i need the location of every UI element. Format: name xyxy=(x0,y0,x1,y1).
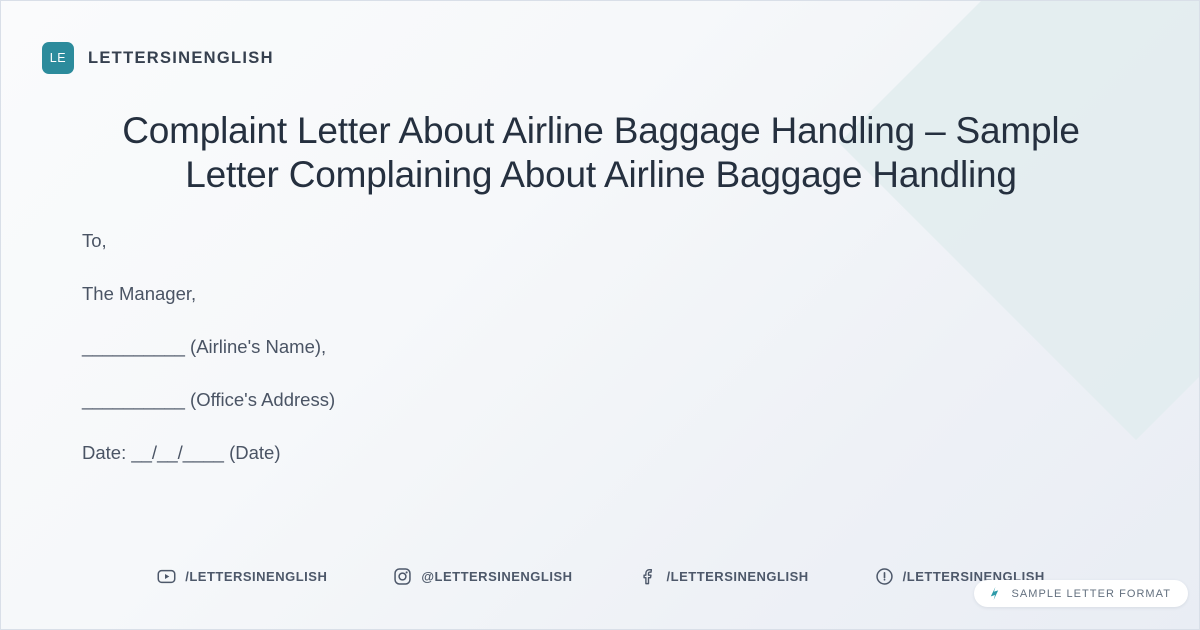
instagram-icon xyxy=(393,567,412,586)
pinterest-icon xyxy=(875,567,894,586)
social-handle: /LETTERSINENGLISH xyxy=(667,569,809,584)
letter-line: __________ (Office's Address) xyxy=(82,388,942,413)
letter-line: To, xyxy=(82,229,942,254)
youtube-icon xyxy=(157,567,176,586)
sample-letter-format-badge[interactable]: SAMPLE LETTER FORMAT xyxy=(974,580,1188,607)
format-badge-label: SAMPLE LETTER FORMAT xyxy=(1011,588,1171,600)
social-link-instagram[interactable]: @LETTERSINENGLISH xyxy=(360,567,605,586)
sample-letter-card: LE LETTERSINENGLISH Complaint Letter Abo… xyxy=(0,0,1200,630)
letter-body: To, The Manager, __________ (Airline's N… xyxy=(82,229,942,466)
letter-line: Date: __/__/____ (Date) xyxy=(82,441,942,466)
letter-line: __________ (Airline's Name), xyxy=(82,335,942,360)
letter-line: The Manager, xyxy=(82,282,942,307)
lightning-bolt-icon xyxy=(987,586,1002,601)
brand-badge-text: LE xyxy=(50,51,67,65)
facebook-icon xyxy=(639,567,658,586)
brand-name: LETTERSINENGLISH xyxy=(88,49,274,68)
brand-logo-badge: LE xyxy=(42,42,74,74)
social-link-facebook[interactable]: /LETTERSINENGLISH xyxy=(606,567,842,586)
page-title: Complaint Letter About Airline Baggage H… xyxy=(71,109,1131,196)
social-handle: /LETTERSINENGLISH xyxy=(185,569,327,584)
social-handle: @LETTERSINENGLISH xyxy=(421,569,572,584)
social-link-youtube[interactable]: /LETTERSINENGLISH xyxy=(124,567,360,586)
brand-header[interactable]: LE LETTERSINENGLISH xyxy=(42,42,274,74)
